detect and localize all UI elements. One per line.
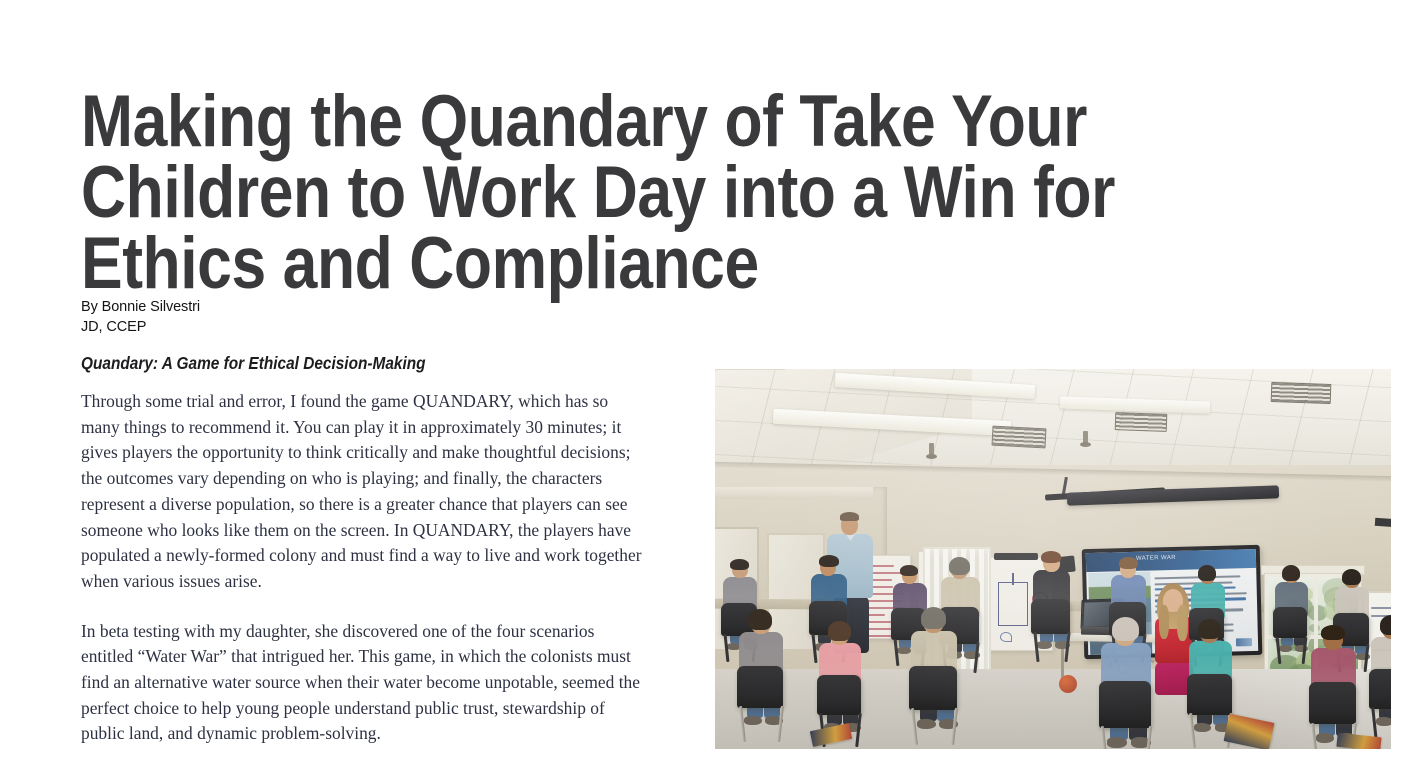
folding-chair <box>817 675 861 715</box>
hair <box>828 621 851 641</box>
photo-scene: WATER WAR <box>715 369 1391 749</box>
folding-chair <box>737 666 783 708</box>
body-paragraph-2: In beta testing with my daughter, she di… <box>81 619 648 748</box>
hair <box>921 607 946 629</box>
ceiling-air-vent <box>992 426 1047 449</box>
shoe <box>1107 737 1127 748</box>
folding-chair <box>1099 681 1151 728</box>
hair-strand <box>1159 605 1169 639</box>
hair <box>900 565 918 576</box>
folding-chair <box>1369 669 1391 709</box>
hair <box>1380 615 1391 635</box>
wall-soffit <box>715 487 873 499</box>
shoe <box>1194 723 1211 732</box>
hair-strand <box>1177 605 1188 641</box>
hair <box>819 555 839 567</box>
shoe <box>1279 645 1292 652</box>
hair <box>1198 565 1216 581</box>
sprinkler-head <box>1083 431 1088 445</box>
hair <box>1112 617 1139 641</box>
ceiling-air-vent <box>1115 412 1168 432</box>
slide-title-text: WATER WAR <box>1136 555 1176 562</box>
red-ball <box>1059 675 1077 693</box>
byline-author: By Bonnie Silvestri <box>81 297 200 317</box>
easel-clip <box>994 553 1038 560</box>
folding-chair <box>1309 682 1356 724</box>
hair <box>840 512 859 521</box>
slide-logo <box>1236 638 1252 646</box>
hair <box>1198 619 1221 639</box>
blind-headrail <box>715 369 785 370</box>
shoe <box>1376 717 1391 726</box>
hair <box>1041 551 1061 563</box>
hair <box>1119 557 1138 569</box>
folding-chair <box>1031 599 1070 634</box>
easel-sketch <box>1000 632 1012 642</box>
byline: By Bonnie Silvestri JD, CCEP <box>81 297 200 337</box>
article-photo: WATER WAR <box>715 369 1391 749</box>
ceiling-air-vent <box>1271 382 1332 404</box>
hair <box>949 557 970 575</box>
section-subheading: Quandary: A Game for Ethical Decision-Ma… <box>81 353 426 374</box>
shoe <box>744 716 762 725</box>
shoe <box>1316 733 1334 743</box>
hair <box>1342 569 1361 585</box>
shoe <box>1037 641 1052 649</box>
hair <box>730 559 749 570</box>
sprinkler-head <box>929 443 934 457</box>
article-body: Through some trial and error, I found th… <box>81 389 648 747</box>
easel-diagram <box>998 582 1028 626</box>
byline-credentials: JD, CCEP <box>81 317 200 337</box>
shoe <box>897 647 911 654</box>
hair <box>1321 625 1345 640</box>
folding-chair <box>1187 674 1232 715</box>
hair <box>748 609 772 630</box>
hair <box>1282 565 1300 581</box>
folding-chair <box>909 666 957 710</box>
whiteboard-writing <box>1371 607 1391 609</box>
page-title: Making the Quandary of Take Your Childre… <box>81 87 1154 299</box>
shoe <box>917 719 936 729</box>
slide-title-bar: WATER WAR <box>1086 549 1256 572</box>
article-page: Making the Quandary of Take Your Childre… <box>0 0 1423 781</box>
folding-chair <box>1273 607 1307 638</box>
body-paragraph-1: Through some trial and error, I found th… <box>81 389 648 595</box>
